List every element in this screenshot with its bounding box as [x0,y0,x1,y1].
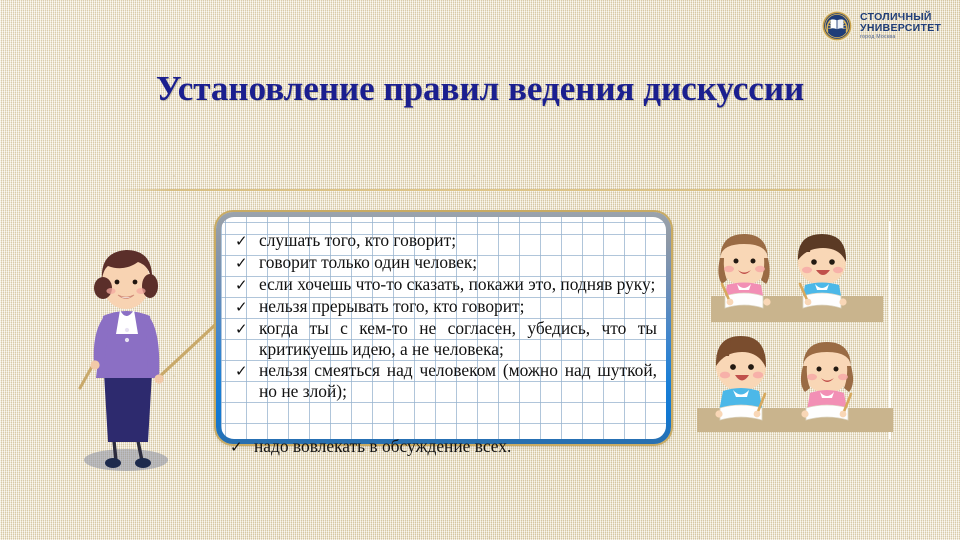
grid-paper-surface: ✓ слушать того, кто говорит; ✓ говорит т… [221,217,666,439]
logo-line-2: УНИВЕРСИТЕТ [860,23,941,34]
list-item: ✓ слушать того, кто говорит; [221,230,666,252]
rule-text: нельзя прерывать того, кто говорит; [259,296,657,317]
check-icon: ✓ [235,253,250,274]
title-divider [113,189,851,191]
student-boy-bottom-left [716,336,766,416]
check-icon: ✓ [235,361,250,382]
logo-line-1: СТОЛИЧНЫЙ [860,12,941,23]
list-item: ✓ когда ты с кем-то не согласен, убедись… [221,318,666,360]
rule-text: нельзя смеяться над человеком (можно над… [259,360,657,402]
rule-text: надо вовлекать в обсуждение всех. [254,436,686,457]
logo-subtitle: город Москва [860,35,941,40]
university-logo: СТОЛИЧНЫЙ УНИВЕРСИТЕТ город Москва [820,9,941,43]
teacher-with-pointer [58,238,230,474]
list-item: ✓ говорит только один человек; [221,252,666,274]
list-item: ✓ нельзя прерывать того, кто говорит; [221,296,666,318]
list-item-overflow: ✓ надо вовлекать в обсуждение всех. [216,436,686,458]
rule-text: говорит только один человек; [259,252,657,273]
four-students-at-desks [697,222,893,440]
list-item: ✓ если хочешь что-то сказать, покажи это… [221,274,666,296]
check-icon: ✓ [235,297,250,318]
slide: СТОЛИЧНЫЙ УНИВЕРСИТЕТ город Москва Устан… [0,0,960,540]
rule-text: если хочешь что-то сказать, покажи это, … [259,274,657,295]
open-book-laurel-emblem [820,9,854,43]
check-icon: ✓ [235,275,250,296]
check-icon: ✓ [235,231,250,252]
rule-text: слушать того, кто говорит; [259,230,657,251]
list-item: ✓ нельзя смеяться над человеком (можно н… [221,360,666,402]
discussion-rules-box: ✓ слушать того, кто говорит; ✓ говорит т… [216,212,671,444]
rule-text: когда ты с кем-то не согласен, убедись, … [259,318,657,360]
rules-list: ✓ слушать того, кто говорит; ✓ говорит т… [221,230,666,402]
slide-title: Установление правил ведения дискуссии [110,68,850,111]
check-icon: ✓ [235,319,250,340]
check-icon: ✓ [230,437,245,458]
